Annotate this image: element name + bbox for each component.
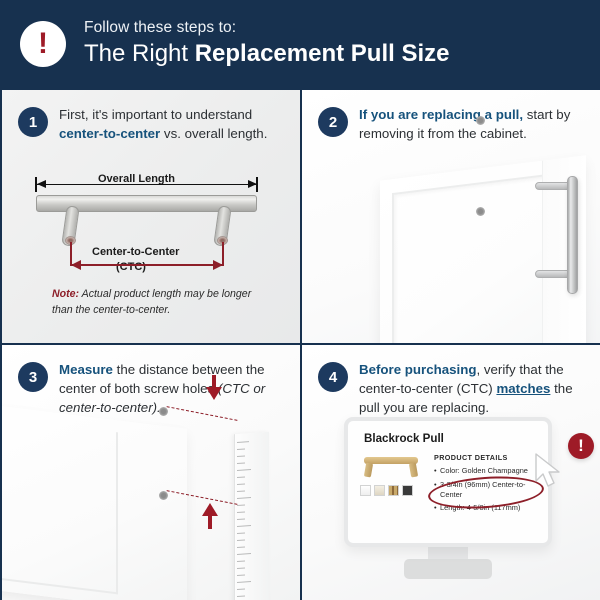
product-thumbnails[interactable] [360,485,413,496]
ruler-icon [234,432,269,600]
title-bold: Replacement Pull Size [195,40,450,67]
page-title: The Right Replacement Pull Size [84,40,449,69]
product-image [362,454,420,480]
product-details-heading: PRODUCT DETAILS [434,453,542,462]
step-4-text-a: Before purchasing [359,362,476,377]
step-panel-2: 2 If you are replacing a pull, start by … [302,90,600,343]
product-title: Blackrock Pull [364,432,444,445]
thumbnail-2[interactable] [374,485,385,496]
step-1-text-b: center-to-center [59,126,160,141]
pull-post-bottom-2 [535,270,571,278]
steps-grid: 1 First, it's important to understand ce… [0,88,600,600]
note-label: Note: [52,288,79,300]
step-1-text-a: First, it's important to understand [59,107,252,122]
step-3-heading: 3 Measure the distance between the cente… [2,345,300,418]
step-1-text: First, it's important to understand cent… [59,106,277,144]
measure-arrow-up-stem [208,515,212,529]
door-panel-inset-2 [392,174,544,343]
header-banner: ! Follow these steps to: The Right Repla… [0,0,600,88]
infographic-root: ! Follow these steps to: The Right Repla… [0,0,600,600]
monitor-base [404,559,492,579]
step-4-heading: 4 Before purchasing, verify that the cen… [302,345,600,418]
step-4-badge: 4 [318,362,348,392]
screw-hole-top-2 [476,116,485,125]
overall-length-line [35,184,257,185]
pull-post-top-2 [535,182,571,190]
monitor-screen: Blackrock Pull PRODUCT DETAILS [344,417,552,547]
ctc-measure-line [72,264,223,266]
pull-dimension-diagram: Overall Length Center-to-Center (CTC) [2,162,300,342]
note-text: Actual product length may be longer than… [52,288,251,316]
product-pull-leg-right [409,462,418,477]
panel-1-note: Note: Actual product length may be longe… [52,287,267,319]
step-3-text-a: Measure [59,362,113,377]
step-panel-1: 1 First, it's important to understand ce… [2,90,300,343]
exclamation-glyph: ! [38,29,48,59]
thumbnail-4[interactable] [402,485,413,496]
ctc-label: Center-to-Center [92,246,179,258]
thumbnail-3[interactable] [388,485,399,496]
step-3-badge: 3 [18,362,48,392]
product-pull-leg-left [364,462,373,477]
step-4-matches-link[interactable]: matches [496,381,550,396]
screw-hole-top-3 [159,407,168,416]
step-2-heading: 2 If you are replacing a pull, start by … [302,90,600,144]
exclamation-icon: ! [568,433,594,459]
mouse-cursor-icon [534,453,564,491]
exclamation-icon: ! [20,21,66,67]
header-kicker: Follow these steps to: [84,19,449,37]
cabinet-pull-2 [567,176,578,294]
title-light: The Right [84,40,195,67]
step-3-text: Measure the distance between the center … [59,361,277,418]
ctc-label-abbrev: (CTC) [116,261,146,273]
ctc-arrow-left [71,260,81,270]
overall-length-arrow-right [248,180,257,188]
door-panel-inset-3 [2,415,118,594]
thumbnail-1[interactable] [360,485,371,496]
step-panel-3: 3 Measure the distance between the cente… [2,345,300,600]
step-2-text: If you are replacing a pull, start by re… [359,106,577,144]
step-4-text: Before purchasing, verify that the cente… [359,361,577,418]
cabinet-door-3 [2,401,187,600]
step-1-text-c: vs. overall length. [160,126,267,141]
product-detail-color: Color: Golden Champagne [434,466,542,476]
header-text-group: Follow these steps to: The Right Replace… [84,19,449,69]
step-1-heading: 1 First, it's important to understand ce… [2,90,300,144]
measure-arrow-up-icon [202,503,218,516]
step-2-badge: 2 [318,107,348,137]
screw-hole-bottom-3 [159,491,168,500]
step-1-badge: 1 [18,107,48,137]
screw-hole-bottom-2 [476,207,485,216]
overall-length-arrow-left [37,180,46,188]
measure-arrow-down-icon [206,387,222,400]
step-2-text-a: If you are replacing a pull, [359,107,523,122]
step-panel-4: 4 Before purchasing, verify that the cen… [302,345,600,600]
ctc-arrow-right [213,260,223,270]
